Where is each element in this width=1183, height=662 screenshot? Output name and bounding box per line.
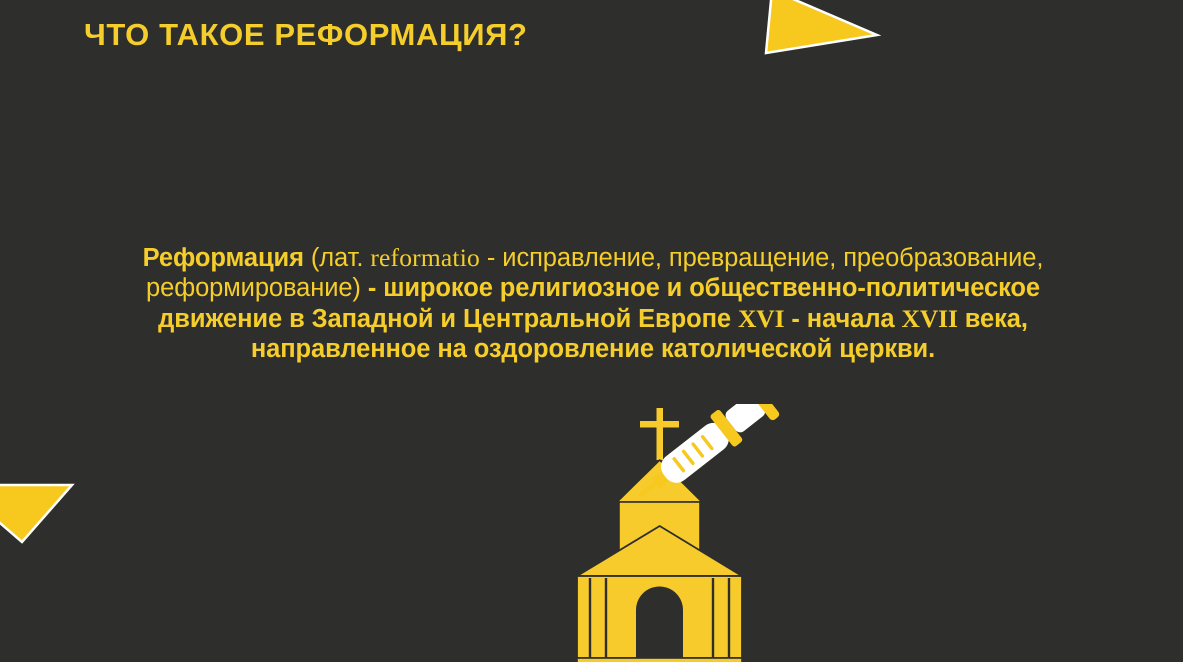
triangle-top-right-icon (756, 0, 881, 56)
definition-dash: - (361, 274, 383, 302)
definition-gloss-open: (лат. (304, 244, 370, 272)
definition-century-17: XVII (902, 304, 958, 333)
definition-latin-word: reformatio (370, 243, 480, 272)
definition-paragraph: Реформация (лат. reformatio - исправлени… (88, 243, 1098, 364)
nave-roof-shape (577, 526, 742, 576)
definition-term: Реформация (143, 244, 304, 272)
page-title: ЧТО ТАКОЕ РЕФОРМАЦИЯ? (84, 16, 528, 53)
arched-door-shape (636, 587, 683, 659)
definition-body-2: - начала (784, 305, 901, 333)
church-with-syringe-illustration (537, 404, 783, 662)
church-base-shape (577, 658, 742, 662)
triangle-bottom-left-icon (0, 478, 81, 548)
definition-century-16: XVI (738, 304, 784, 333)
slide-canvas: ЧТО ТАКОЕ РЕФОРМАЦИЯ? Реформация (лат. r… (0, 0, 1183, 662)
